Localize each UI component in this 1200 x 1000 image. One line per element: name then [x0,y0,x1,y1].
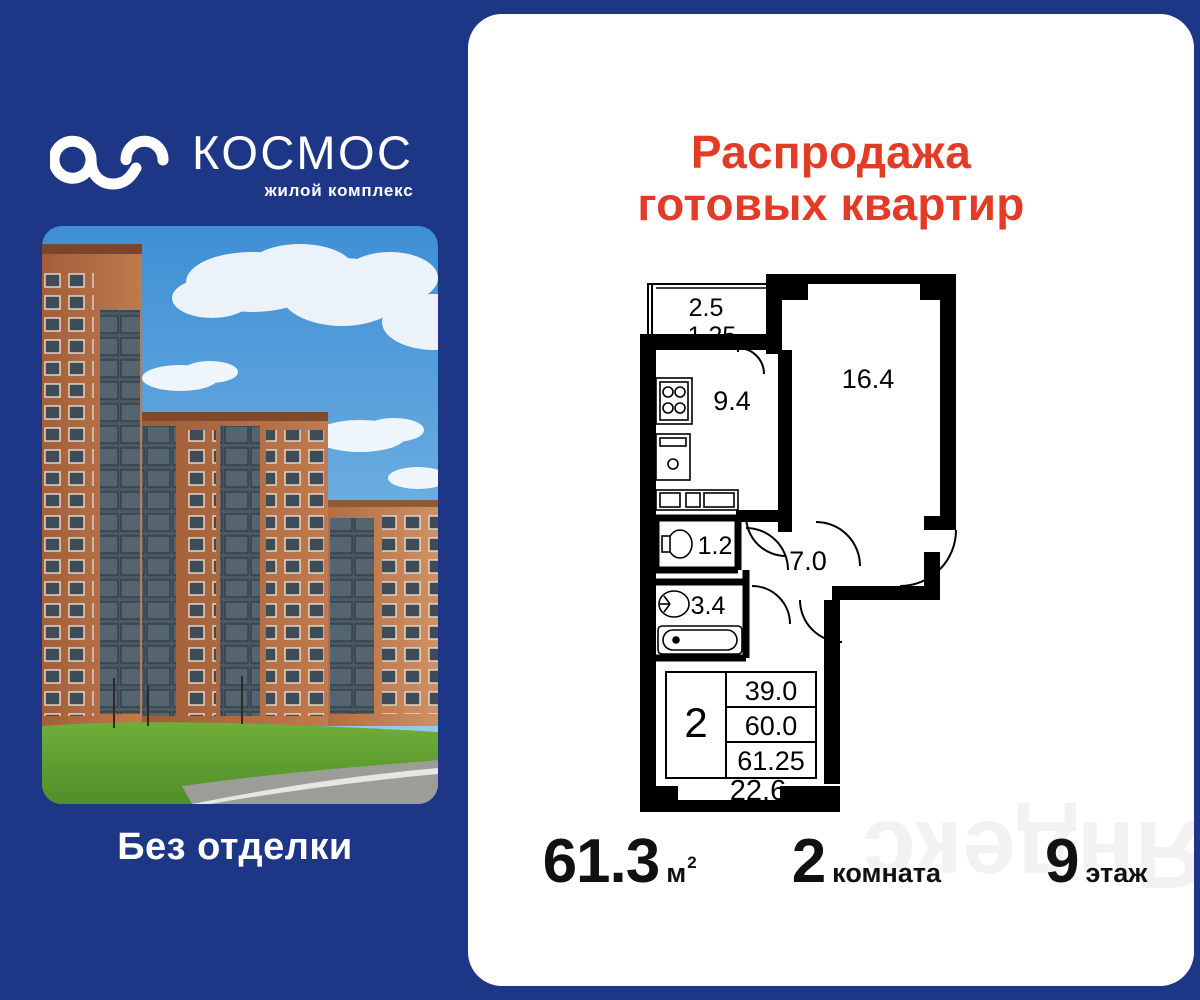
brand-block: КОСМОС жилой комплекс [50,128,413,201]
summary-floor-unit: этаж [1086,858,1148,889]
brand-text-block: КОСМОС жилой комплекс [192,128,413,201]
finish-label: Без отделки [0,826,470,869]
summary-floor-value: 9 [1045,826,1078,897]
info-total-with-balcony: 61.25 [737,746,805,776]
label-hallway: 7.0 [789,546,827,576]
label-kitchen: 9.4 [713,386,751,416]
summary-area-unit-sup: 2 [687,853,696,873]
summary-row: 61.3 м 2 2 комната 9 этаж [468,826,1194,906]
label-living-room: 16.4 [842,364,895,394]
building-photo [42,226,438,804]
headline-line-1: Распродажа [468,126,1194,178]
listing-card: Распродажа готовых квартир [468,14,1194,986]
info-living-area: 39.0 [745,676,798,706]
page-title: Распродажа готовых квартир [468,126,1194,230]
label-balcony-area: 2.5 [689,294,724,322]
infinity-loops-icon [50,128,174,192]
floor-plan-diagram: 2.5 1.25 9.4 16.4 1.2 3.4 7.0 22.6 2 39.… [618,252,1038,822]
info-total-area: 60.0 [745,711,798,741]
headline-line-2: готовых квартир [468,178,1194,230]
label-bedroom: 22.6 [730,775,786,807]
label-balcony-reduced: 1.25 [688,322,737,350]
info-rooms-count: 2 [684,699,707,746]
label-bathroom: 3.4 [691,592,726,620]
brand-name: КОСМОС [192,128,413,177]
summary-rooms: 2 комната [792,826,941,897]
summary-floor: 9 этаж [1045,826,1147,897]
summary-area-unit: м [666,858,686,889]
summary-area: 61.3 м 2 [543,826,696,897]
left-brand-panel: КОСМОС жилой комплекс [0,0,470,1000]
summary-rooms-unit: комната [832,858,941,889]
summary-rooms-value: 2 [792,826,825,897]
brand-subtitle: жилой комплекс [192,181,413,201]
summary-area-value: 61.3 [543,826,660,897]
label-wc: 1.2 [698,532,733,560]
